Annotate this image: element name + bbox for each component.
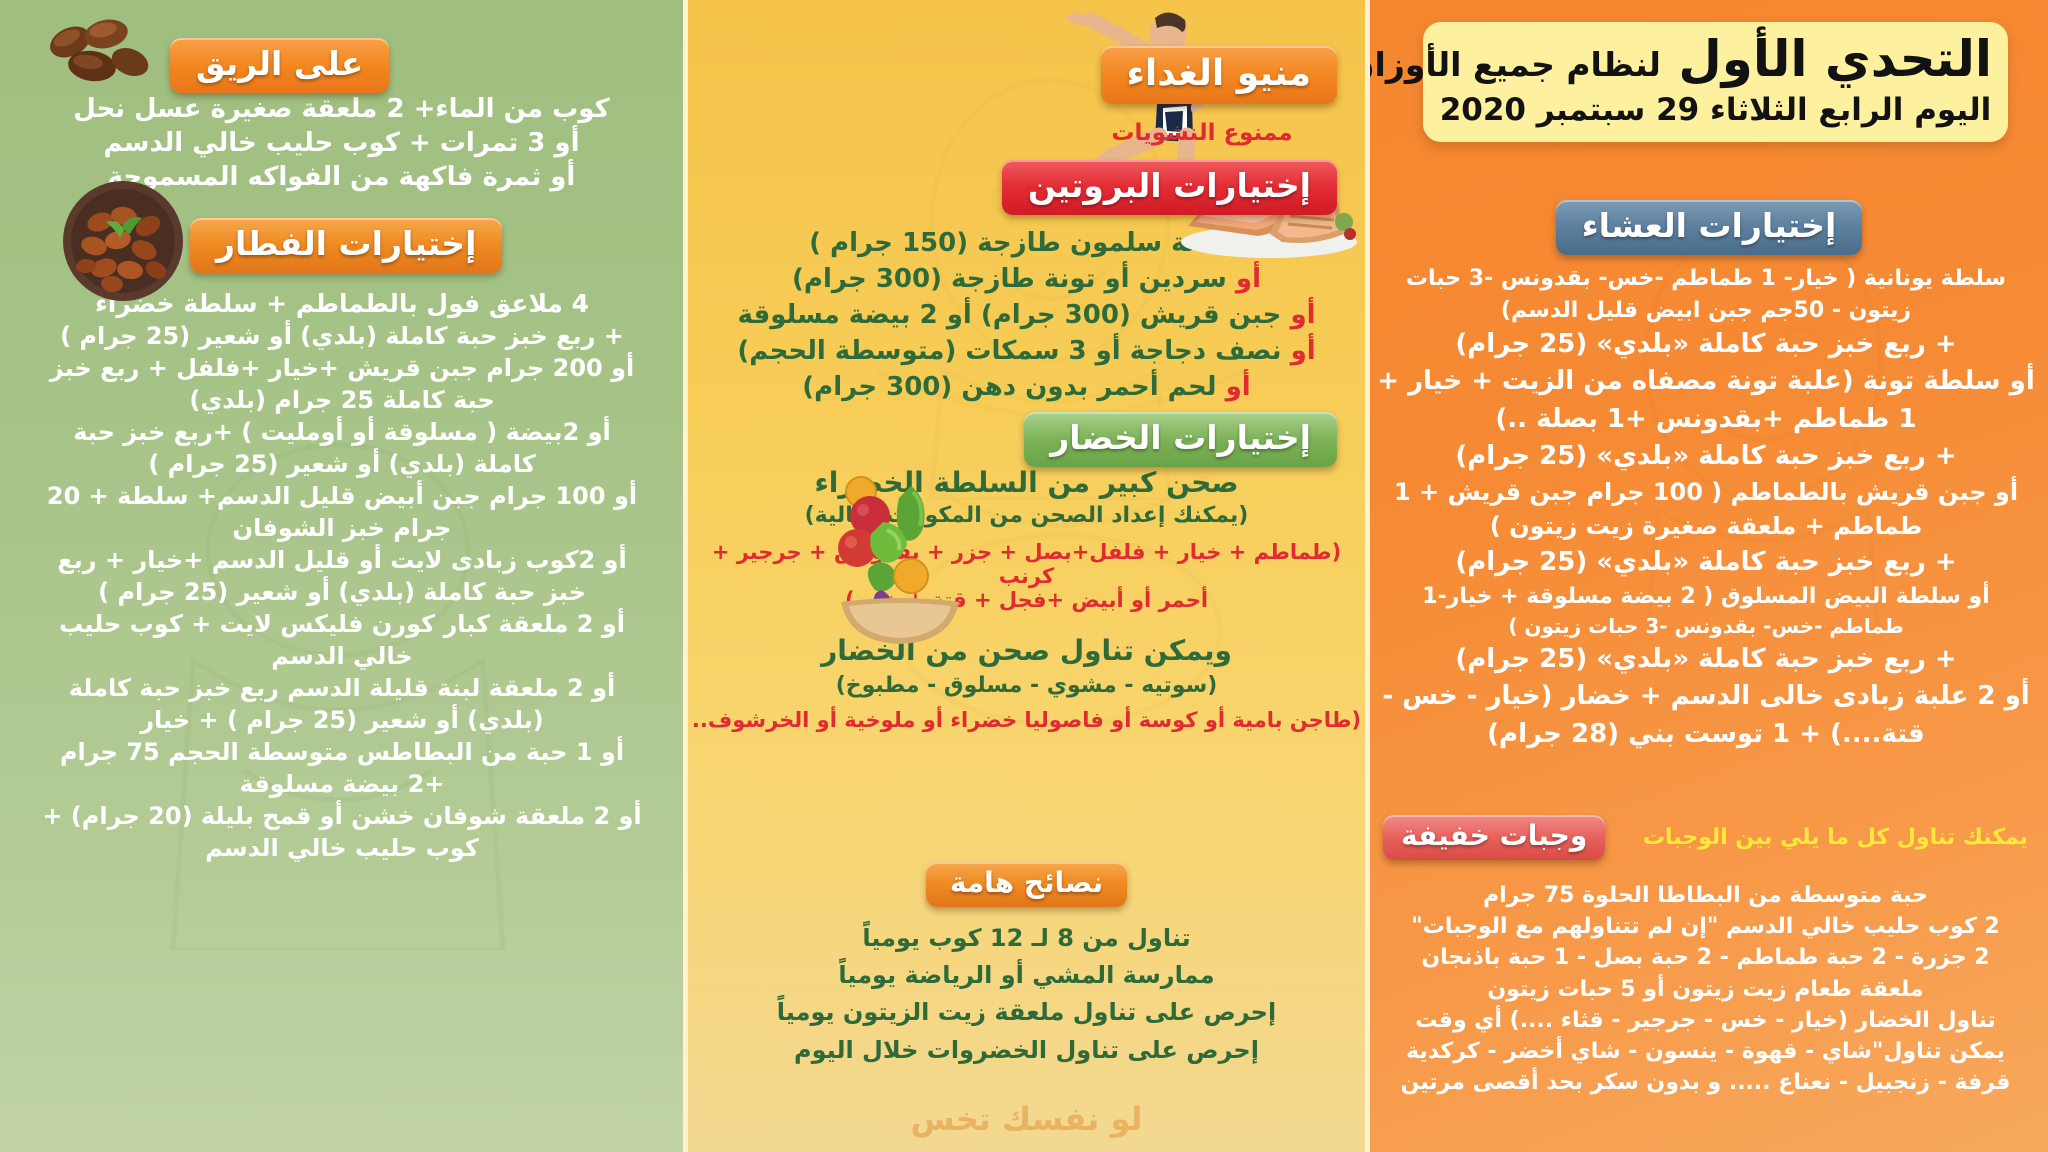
snack-line: 2 جزرة - 2 حبة طماطم - 2 حبة بصل - 1 حبة… (1378, 942, 2033, 973)
salad-bowl-icon (825, 470, 975, 645)
tip-item: تناول من 8 لـ 12 كوب يومياً (688, 920, 1365, 957)
dates-fruit-icon (34, 8, 154, 88)
veg-subtitle-2: (سوتيه - مشوي - مسلوق - مطبوخ) (688, 673, 1365, 698)
breakfast-line: أو 2كوب زبادى لايت أو قليل الدسم +خيار +… (7, 546, 677, 574)
snacks-hint: يمكنك تناول كل ما يلي بين الوجبات (1643, 825, 2028, 850)
breakfast-line: كاملة (بلدي) أو شعير (25 جرام ) (7, 450, 677, 478)
or-word: أو (1290, 300, 1315, 330)
or-word: أو (1291, 336, 1316, 366)
dinner-line: + ربع خبز حبة كاملة «بلدي» (25 جرام) (1376, 642, 2036, 677)
brand-watermark: لو نفسك تخس (910, 1100, 1142, 1138)
breakfast-line: خبز حبة كاملة (بلدي) أو شعير (25 جرام ) (7, 578, 677, 606)
dinner-line: 1 طماطم +بقدونس +1 بصلة ..) (1376, 402, 2036, 437)
on-empty-stomach-badge: على الريق (170, 38, 389, 93)
dinner-line: طماطم -خس- بقدونس -3 حبات زيتون ) (1376, 613, 2036, 640)
veg-ingredients-line: (طماطم + خيار + فلفل+بصل + جزر + بقدونس … (688, 540, 1365, 588)
vegetable-section: صحن كبير من السلطة الخضراء (يمكنك إعداد … (688, 460, 1365, 732)
veg-ingredients-line: (طاجن بامية أو كوسة أو فاصوليا خضراء أو … (688, 708, 1365, 732)
snacks-list: حبة متوسطة من البطاطا الحلوة 75 جرام 2 ك… (1378, 880, 2033, 1099)
dinner-line: طماطم + ملعقة صغيرة زيت زيتون ) (1376, 510, 2036, 542)
protein-line: أو لحم أحمر بدون دهن (300 جرام) (688, 372, 1365, 402)
snack-line: حبة متوسطة من البطاطا الحلوة 75 جرام (1378, 880, 2033, 911)
protein-line: أو نصف دجاجة أو 3 سمكات (متوسطة الحجم) (688, 336, 1365, 366)
column-lunch: منيو الغداء ممنوع النشويات إختيارات البر… (683, 0, 1365, 1152)
lunch-menu-badge: منيو الغداء (1101, 46, 1338, 104)
dinner-line: أو سلطة تونة (علبة تونة مصفاه من الزيت +… (1376, 364, 2036, 399)
title-main-bold: التحدي الأول (1678, 30, 1992, 88)
snack-line: ملعقة طعام زيت زيتون أو 5 حبات زيتون (1378, 974, 2033, 1005)
fasting-line: كوب من الماء+ 2 ملعقة صغيرة عسل نحل (0, 94, 683, 124)
diet-plan-poster: التحدي الأول لنظام جميع الأوزان اليوم ال… (0, 0, 2048, 1152)
tip-item: إحرص على تناول ملعقة زيت الزيتون يومياً (688, 994, 1365, 1031)
or-word: أو (1226, 372, 1251, 402)
dinner-line: زيتون - 50جم جبن ابيض قليل الدسم) (1376, 296, 2036, 326)
poster-title-card: التحدي الأول لنظام جميع الأوزان اليوم ال… (1423, 22, 2008, 142)
breakfast-line: أو 2بيضة ( مسلوقة أو أومليت ) +ربع خبز ح… (7, 418, 677, 446)
breakfast-line: أو 200 جرام جبن قريش +خيار +فلفل + ربع خ… (7, 354, 677, 382)
lunch-subnote: ممنوع النشويات (1111, 120, 1292, 146)
veg-ingredients-line: أحمر أو أبيض +فجل + قتة + خس) (688, 588, 1365, 612)
breakfast-options-list: 4 ملاعق فول بالطماطم + سلطة خضراء + ربع … (7, 285, 677, 866)
veg-subtitle: (يمكنك إعداد الصحن من المكونات التالية) (688, 503, 1365, 528)
breakfast-line: + ربع خبز حبة كاملة (بلدي) أو شعير (25 ج… (7, 322, 677, 350)
breakfast-line: أو 2 ملعقة كبار كورن فليكس لايت + كوب حل… (7, 610, 677, 638)
dinner-line: + ربع خبز حبة كاملة «بلدي» (25 جرام) (1376, 545, 2036, 580)
snack-line: قرفة - زنجبيل - نعناع ..... و بدون سكر ب… (1378, 1067, 2033, 1098)
protein-options-badge: إختيارات البروتين (1002, 160, 1337, 215)
column-breakfast: على الريق كوب من الماء+ 2 ملعقة صغيرة عس… (0, 0, 683, 1152)
fasting-line: أو 3 تمرات + كوب حليب خالي الدسم (0, 128, 683, 158)
dinner-line: + ربع خبز حبة كاملة «بلدي» (25 جرام) (1376, 327, 2036, 362)
vegetable-options-badge: إختيارات الخضار (1024, 412, 1337, 467)
breakfast-line: (بلدي) أو شعير (25 جرام ) + خيار (7, 706, 677, 734)
dinner-options-list: سلطة يونانية ( خيار- 1 طماطم -خس- بقدونس… (1376, 262, 2036, 753)
breakfast-line: جرام خبز الشوفان (7, 514, 677, 542)
dinner-line: أو جبن قريش بالطماطم ( 100 جرام جبن قريش… (1376, 476, 2036, 508)
dinner-line: قتة....) + 1 توست بني (28 جرام) (1376, 717, 2036, 752)
snack-line: يمكن تناول"شاي - قهوة - ينسون - شاي أخضر… (1378, 1036, 2033, 1067)
or-word: أو (1236, 264, 1261, 294)
column-dinner: التحدي الأول لنظام جميع الأوزان اليوم ال… (1365, 0, 2048, 1152)
snack-line: 2 كوب حليب خالي الدسم "إن لم تتناولهم مع… (1378, 911, 2033, 942)
light-meals-badge: وجبات خفيفة (1383, 815, 1605, 860)
important-tips-badge: نصائح هامة (926, 862, 1127, 907)
dinner-options-badge: إختيارات العشاء (1556, 200, 1863, 255)
tip-item: إحرص على تناول الخضروات خلال اليوم (688, 1032, 1365, 1069)
breakfast-line: أو 1 حبة من البطاطس متوسطة الحجم 75 جرام (7, 738, 677, 766)
breakfast-line: حبة كاملة 25 جرام (بلدي) (7, 386, 677, 414)
veg-heading: صحن كبير من السلطة الخضراء (688, 466, 1365, 499)
protein-line: أو جبن قريش (300 جرام) أو 2 بيضة مسلوقة (688, 300, 1365, 330)
protein-line: أو سردين أو تونة طازجة (300 جرام) (688, 264, 1365, 294)
title-main-light: لنظام جميع الأوزان (1365, 45, 1661, 84)
breakfast-options-badge: إختيارات الفطار (190, 218, 502, 273)
breakfast-line: أو 2 ملعقة لبنة قليلة الدسم ربع خبز حبة … (7, 674, 677, 702)
veg-heading-2: ويمكن تناول صحن من الخضار (688, 634, 1365, 667)
breakfast-line: أو 2 ملعقة شوفان خشن أو قمح بليلة (20 جر… (7, 802, 677, 830)
snack-line: تناول الخضار (خيار - خس - جرجير - قثاء .… (1378, 1005, 2033, 1036)
poster-title: التحدي الأول لنظام جميع الأوزان (1439, 32, 1992, 86)
beans-bowl-icon (60, 178, 186, 304)
dinner-line: سلطة يونانية ( خيار- 1 طماطم -خس- بقدونس… (1376, 264, 2036, 294)
breakfast-line: كوب حليب خالي الدسم (7, 834, 677, 862)
dinner-line: + ربع خبز حبة كاملة «بلدي» (25 جرام) (1376, 439, 2036, 474)
tips-list: تناول من 8 لـ 12 كوب يومياً ممارسة المشي… (688, 920, 1365, 1069)
breakfast-line: خالي الدسم (7, 642, 677, 670)
breakfast-line: أو 100 جرام جبن أبيض قليل الدسم+ سلطة + … (7, 482, 677, 510)
dinner-line: أو سلطة البيض المسلوق ( 2 بيضة مسلوقة + … (1376, 582, 2036, 612)
poster-date: اليوم الرابع الثلاثاء 29 سبتمبر 2020 (1439, 92, 1992, 128)
breakfast-line: +2 بيضة مسلوقة (7, 770, 677, 798)
tip-item: ممارسة المشي أو الرياضة يومياً (688, 957, 1365, 994)
dinner-line: أو 2 علبة زبادى خالى الدسم + خضار (خيار … (1376, 679, 2036, 714)
